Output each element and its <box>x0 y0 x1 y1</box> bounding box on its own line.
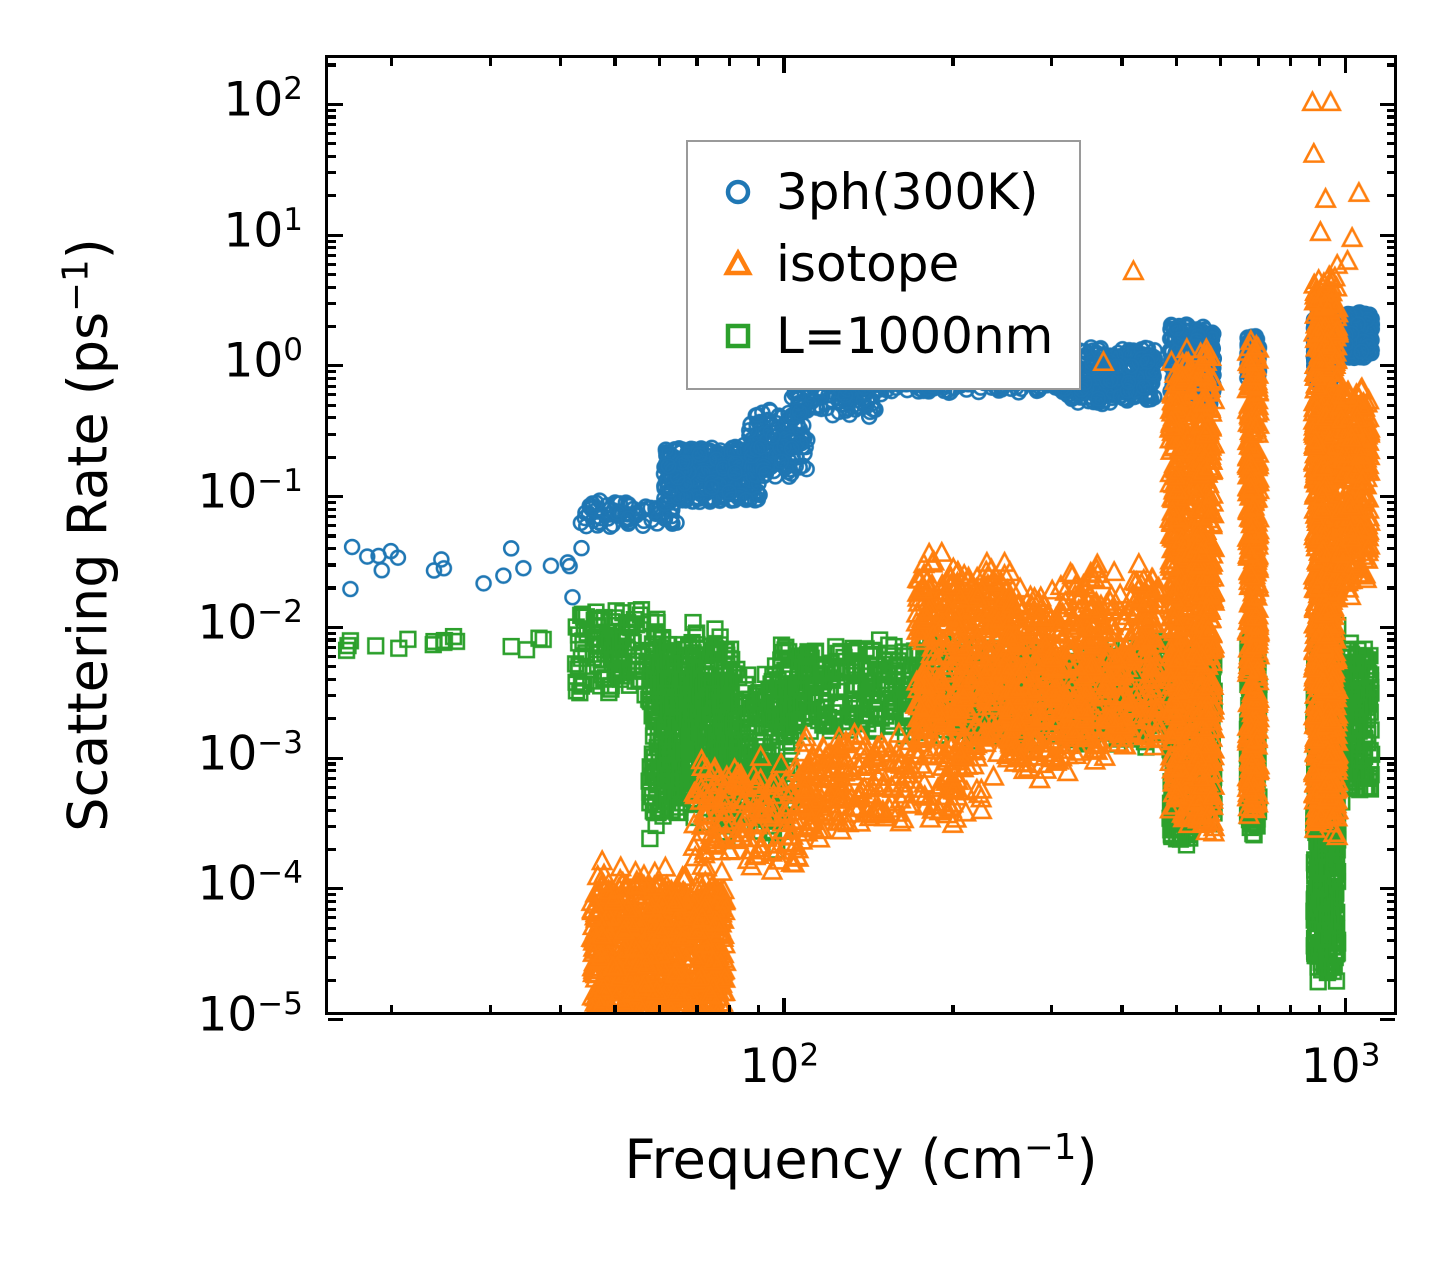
tick-mark <box>782 998 785 1013</box>
tick-mark <box>1387 927 1395 930</box>
y-tick-label: 100 <box>223 338 303 385</box>
tick-mark <box>1387 194 1395 197</box>
tick-mark <box>328 404 336 407</box>
tick-mark <box>1387 370 1395 373</box>
y-tick-label: 10−4 <box>197 861 303 908</box>
tick-mark <box>328 893 336 896</box>
legend-label-length: L=1000nm <box>776 311 1053 361</box>
square-marker-icon <box>706 319 770 353</box>
tick-mark <box>1387 809 1395 812</box>
tick-mark <box>559 1005 562 1013</box>
triangle-marker-icon <box>706 247 770 281</box>
tick-mark <box>1387 939 1395 942</box>
tick-mark <box>1387 638 1395 641</box>
tick-mark <box>328 757 343 760</box>
tick-mark <box>328 416 336 419</box>
tick-mark <box>328 547 336 550</box>
x-axis-title: Frequency (cm−1) <box>325 1128 1397 1191</box>
tick-mark <box>328 887 343 890</box>
tick-mark <box>328 979 336 982</box>
tick-mark <box>328 132 336 135</box>
tick-mark <box>1387 665 1395 668</box>
tick-mark <box>1387 893 1395 896</box>
tick-mark <box>328 916 336 919</box>
tick-mark <box>1387 393 1395 396</box>
tick-mark <box>1387 286 1395 289</box>
tick-mark <box>1387 515 1395 518</box>
tick-mark <box>328 273 336 276</box>
tick-mark <box>1387 646 1395 649</box>
y-tick-label: 102 <box>223 76 303 123</box>
x-tick-label: 103 <box>1301 1043 1381 1090</box>
tick-mark <box>782 58 785 73</box>
tick-mark <box>328 325 336 328</box>
tick-mark <box>1387 547 1395 550</box>
legend-label-isotope: isotope <box>776 239 959 289</box>
x-tick-label: 102 <box>740 1043 820 1090</box>
tick-mark <box>1387 524 1395 527</box>
tick-mark <box>1387 404 1395 407</box>
tick-mark <box>1050 58 1053 66</box>
tick-mark <box>328 534 336 537</box>
tick-mark <box>1387 254 1395 257</box>
tick-mark <box>695 58 698 66</box>
legend[interactable]: 3ph(300K) isotope L=1000nm <box>686 140 1081 390</box>
y-tick-label: 10−5 <box>197 992 303 1039</box>
tick-mark <box>1257 1005 1260 1013</box>
tick-mark <box>658 1005 661 1013</box>
tick-mark <box>1387 655 1395 658</box>
tick-mark <box>1387 825 1395 828</box>
tick-mark <box>328 809 336 812</box>
tick-mark <box>1219 1005 1222 1013</box>
tick-mark <box>1387 416 1395 419</box>
y-axis-title: Scattering Rate (ps−1) <box>57 238 120 832</box>
tick-mark <box>328 385 336 388</box>
tick-mark <box>328 796 336 799</box>
tick-mark <box>1380 757 1395 760</box>
tick-mark <box>559 58 562 66</box>
tick-mark <box>1380 364 1395 367</box>
tick-mark <box>1387 786 1395 789</box>
plot-area: 3ph(300K) isotope L=1000nm <box>325 55 1397 1015</box>
legend-entry-3ph[interactable]: 3ph(300K) <box>706 156 1053 228</box>
tick-mark <box>1387 956 1395 959</box>
tick-mark <box>1387 302 1395 305</box>
tick-mark <box>951 1005 954 1013</box>
tick-mark <box>328 495 343 498</box>
tick-mark <box>328 456 336 459</box>
tick-mark <box>1387 563 1395 566</box>
tick-mark <box>328 194 336 197</box>
tick-mark <box>1387 848 1395 851</box>
tick-mark <box>328 63 336 66</box>
tick-mark <box>1387 900 1395 903</box>
tick-mark <box>1318 1005 1321 1013</box>
tick-mark <box>328 717 336 720</box>
tick-mark <box>328 370 336 373</box>
tick-mark <box>1120 58 1123 66</box>
tick-mark <box>1387 385 1395 388</box>
tick-mark <box>1387 534 1395 537</box>
tick-mark <box>1387 433 1395 436</box>
tick-mark <box>1387 456 1395 459</box>
tick-mark <box>1387 762 1395 765</box>
tick-mark <box>328 939 336 942</box>
tick-mark <box>695 1005 698 1013</box>
tick-mark <box>489 58 492 66</box>
tick-mark <box>1380 887 1395 890</box>
tick-mark <box>328 632 336 635</box>
tick-mark <box>1387 508 1395 511</box>
tick-mark <box>1387 777 1395 780</box>
tick-mark <box>1387 325 1395 328</box>
tick-mark <box>1380 234 1395 237</box>
tick-mark <box>328 655 336 658</box>
tick-mark <box>1289 1005 1292 1013</box>
tick-mark <box>328 155 336 158</box>
tick-mark <box>613 1005 616 1013</box>
tick-mark <box>1387 377 1395 380</box>
tick-mark <box>1387 501 1395 504</box>
tick-mark <box>328 665 336 668</box>
legend-label-3ph: 3ph(300K) <box>776 167 1038 217</box>
y-tick-label: 10−3 <box>197 730 303 777</box>
tick-mark <box>1380 626 1395 629</box>
tick-mark <box>1344 998 1347 1013</box>
tick-mark <box>328 694 336 697</box>
tick-mark <box>1387 246 1395 249</box>
tick-mark <box>1387 155 1395 158</box>
tick-mark <box>1387 717 1395 720</box>
tick-mark <box>658 58 661 66</box>
tick-mark <box>951 58 954 66</box>
tick-mark <box>757 1005 760 1013</box>
tick-mark <box>328 646 336 649</box>
tick-mark <box>1380 1018 1395 1021</box>
tick-mark <box>328 286 336 289</box>
tick-mark <box>328 777 336 780</box>
tick-mark <box>328 563 336 566</box>
tick-mark <box>328 786 336 789</box>
tick-mark <box>328 956 336 959</box>
tick-mark <box>1387 171 1395 174</box>
tick-mark <box>328 171 336 174</box>
tick-mark <box>328 263 336 266</box>
tick-mark <box>390 58 393 66</box>
tick-mark <box>1387 142 1395 145</box>
tick-mark <box>1380 103 1395 106</box>
tick-mark <box>1387 115 1395 118</box>
tick-mark <box>328 433 336 436</box>
y-tick-label: 101 <box>223 207 303 254</box>
tick-mark <box>1387 63 1395 66</box>
tick-mark <box>1387 678 1395 681</box>
tick-mark <box>1387 694 1395 697</box>
tick-mark <box>728 58 731 66</box>
tick-mark <box>1387 273 1395 276</box>
tick-mark <box>1387 263 1395 266</box>
tick-mark <box>328 115 336 118</box>
legend-entry-isotope[interactable]: isotope <box>706 228 1053 300</box>
tick-mark <box>1257 58 1260 66</box>
tick-mark <box>1289 58 1292 66</box>
tick-mark <box>1387 979 1395 982</box>
tick-mark <box>390 1005 393 1013</box>
tick-mark <box>328 825 336 828</box>
y-tick-label: 10−2 <box>197 599 303 646</box>
tick-mark <box>328 769 336 772</box>
tick-mark <box>328 1018 343 1021</box>
tick-mark <box>1120 1005 1123 1013</box>
tick-mark <box>1387 109 1395 112</box>
tick-mark <box>1050 1005 1053 1013</box>
tick-mark <box>328 240 336 243</box>
tick-mark <box>328 678 336 681</box>
tick-mark <box>328 393 336 396</box>
tick-mark <box>613 58 616 66</box>
legend-entry-length[interactable]: L=1000nm <box>706 300 1053 372</box>
tick-mark <box>328 302 336 305</box>
tick-mark <box>728 1005 731 1013</box>
tick-mark <box>328 123 336 126</box>
tick-mark <box>1387 240 1395 243</box>
tick-mark <box>1387 769 1395 772</box>
tick-mark <box>328 626 343 629</box>
y-tick-label: 10−1 <box>197 469 303 516</box>
tick-mark <box>328 900 336 903</box>
tick-mark <box>1387 132 1395 135</box>
tick-mark <box>328 908 336 911</box>
tick-mark <box>328 246 336 249</box>
tick-mark <box>328 103 343 106</box>
scatter-plot-figure: Scattering Rate (ps−1) 10210110010−110−2… <box>0 0 1455 1265</box>
tick-mark <box>1380 495 1395 498</box>
tick-mark <box>1175 58 1178 66</box>
tick-mark <box>328 254 336 257</box>
tick-mark <box>1387 586 1395 589</box>
tick-mark <box>328 234 343 237</box>
tick-mark <box>328 927 336 930</box>
tick-mark <box>328 501 336 504</box>
tick-mark <box>1387 796 1395 799</box>
tick-mark <box>1219 58 1222 66</box>
tick-mark <box>328 142 336 145</box>
tick-mark <box>328 848 336 851</box>
tick-mark <box>328 364 343 367</box>
tick-mark <box>489 1005 492 1013</box>
tick-mark <box>1387 632 1395 635</box>
tick-mark <box>1387 123 1395 126</box>
tick-mark <box>1387 908 1395 911</box>
tick-mark <box>1318 58 1321 66</box>
tick-mark <box>1387 916 1395 919</box>
tick-mark <box>757 58 760 66</box>
tick-mark <box>328 524 336 527</box>
tick-mark <box>328 377 336 380</box>
tick-mark <box>328 515 336 518</box>
tick-mark <box>328 638 336 641</box>
tick-mark <box>1344 58 1347 73</box>
circle-marker-icon <box>706 175 770 209</box>
tick-mark <box>328 109 336 112</box>
tick-mark <box>328 586 336 589</box>
tick-mark <box>328 508 336 511</box>
tick-mark <box>328 762 336 765</box>
tick-mark <box>1175 1005 1178 1013</box>
